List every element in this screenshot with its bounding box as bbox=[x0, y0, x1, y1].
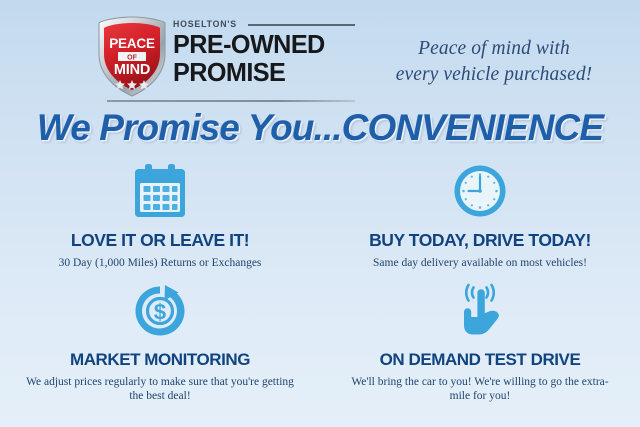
tagline-line1: Peace of mind with bbox=[360, 36, 628, 62]
svg-text:PEACE: PEACE bbox=[109, 36, 155, 51]
feature-description: We adjust prices regularly to make sure … bbox=[0, 375, 320, 403]
svg-text:$: $ bbox=[154, 300, 166, 325]
tagline-line2: every vehicle purchased! bbox=[360, 62, 628, 88]
peace-of-mind-shield-icon: PEACE OF MIND bbox=[97, 16, 167, 98]
tap-hand-icon bbox=[320, 280, 640, 342]
svg-text:OF: OF bbox=[127, 54, 137, 61]
pre-owned-promise-poster: PEACE OF MIND HOSELTON'S PRE-O bbox=[0, 0, 640, 427]
feature-title: BUY TODAY, DRIVE TODAY! bbox=[320, 230, 640, 251]
feature-title: LOVE IT OR LEAVE IT! bbox=[0, 230, 320, 251]
clock-icon bbox=[320, 160, 640, 222]
feature-description: 30 Day (1,000 Miles) Returns or Exchange… bbox=[0, 256, 320, 270]
feature-on-demand-test-drive: ON DEMAND TEST DRIVE We'll bring the car… bbox=[320, 278, 640, 398]
program-title-line2: PROMISE bbox=[173, 59, 285, 86]
poster-header: PEACE OF MIND HOSELTON'S PRE-O bbox=[0, 8, 640, 100]
feature-description: Same day delivery available on most vehi… bbox=[320, 256, 640, 270]
page-headline: We Promise You...CONVENIENCE bbox=[0, 106, 640, 150]
feature-buy-today-drive-today: BUY TODAY, DRIVE TODAY! Same day deliver… bbox=[320, 158, 640, 278]
tagline: Peace of mind with every vehicle purchas… bbox=[360, 36, 628, 88]
feature-description: We'll bring the car to you! We're willin… bbox=[320, 375, 640, 403]
feature-title: ON DEMAND TEST DRIVE bbox=[320, 350, 640, 370]
calendar-icon bbox=[0, 160, 320, 222]
dealer-name-rule bbox=[248, 24, 356, 26]
feature-love-it-or-leave-it: LOVE IT OR LEAVE IT! 30 Day (1,000 Miles… bbox=[0, 158, 320, 278]
brand-wordmark: HOSELTON'S PRE-OWNED PROMISE bbox=[173, 12, 355, 102]
feature-market-monitoring: $ MARKET MONITORING We adjust prices reg… bbox=[0, 278, 320, 398]
dollar-refresh-icon: $ bbox=[0, 280, 320, 342]
svg-text:MIND: MIND bbox=[114, 62, 150, 78]
program-title-line1: PRE-OWNED bbox=[173, 31, 325, 58]
feature-title: MARKET MONITORING bbox=[0, 350, 320, 370]
brand-lockup: PEACE OF MIND HOSELTON'S PRE-O bbox=[97, 12, 355, 102]
lockup-divider bbox=[107, 100, 355, 102]
feature-grid: LOVE IT OR LEAVE IT! 30 Day (1,000 Miles… bbox=[0, 158, 640, 423]
